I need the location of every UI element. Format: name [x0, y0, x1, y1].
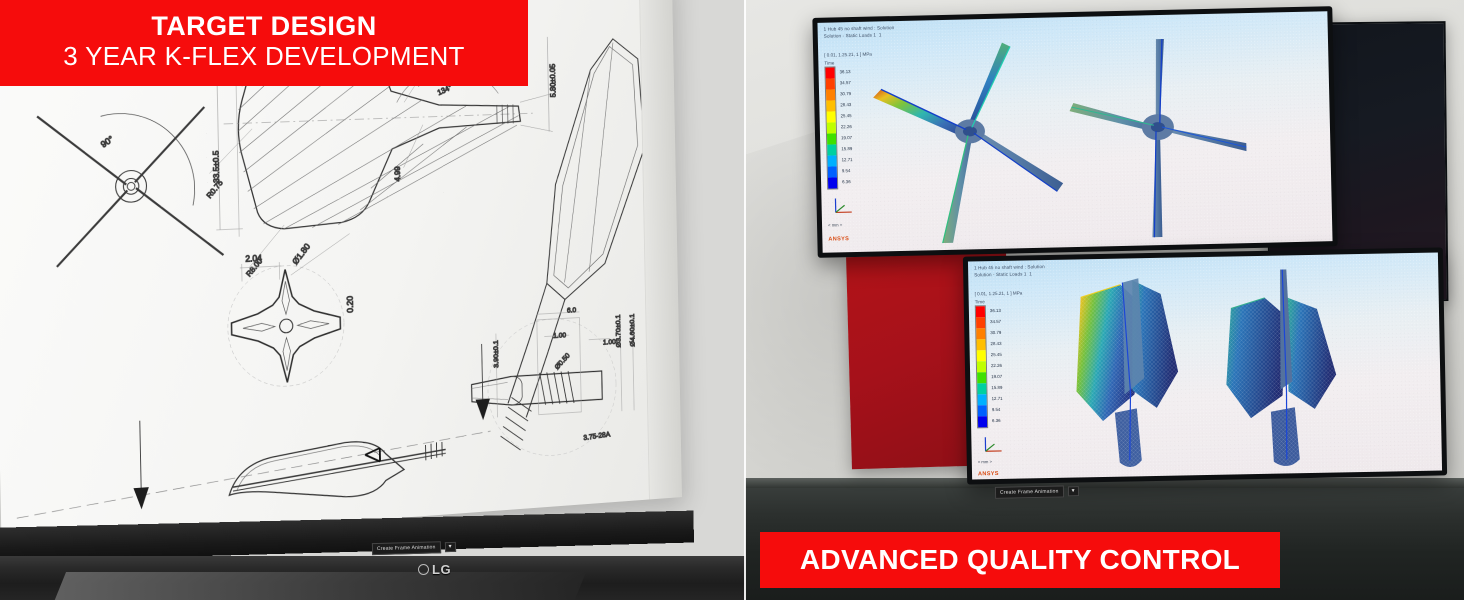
right-photo-panel: 1 Hub 45 no shaft wind : Solution Soluti…: [745, 0, 1464, 600]
sim-geometry-bottom: [1034, 267, 1438, 475]
dim-len-3-90: 3.90±0.1: [491, 340, 500, 368]
legend-tick: 25.45: [840, 110, 851, 121]
legend-tick: 15.89: [991, 382, 1002, 393]
dim-thread-spec: 3.75-28A: [583, 430, 610, 442]
legend-tick: 9.54: [842, 165, 853, 176]
legend-tick: 22.26: [841, 121, 852, 132]
legend-tick: 15.89: [841, 143, 852, 154]
dim-radius-0-75: R0.75: [205, 178, 225, 200]
stress-legend-bottom: 36.13 34.57 30.79 28.43 25.45 22.26 19.0…: [975, 305, 1003, 428]
legend-tick: 22.26: [991, 360, 1002, 371]
legend-tick: 28.43: [990, 338, 1001, 349]
banner-quality-control: ADVANCED QUALITY CONTROL: [760, 532, 1280, 588]
banner-quality-line1: ADVANCED QUALITY CONTROL: [800, 544, 1240, 576]
legend-tick: 34.57: [990, 316, 1001, 327]
axis-triad-icon-bottom: [981, 433, 1008, 460]
legend-colorbar-bottom: [975, 305, 988, 428]
legend-tick: 6.36: [992, 415, 1003, 426]
ansys-monitor-bottom: 1 Hub 45 no shaft wind : Solution Soluti…: [963, 247, 1447, 484]
axis-triad-icon-top: [831, 194, 858, 222]
legend-tick: 6.36: [842, 176, 853, 187]
sim-geometry-top: [868, 19, 1323, 244]
cad-monitor-stand: [0, 556, 745, 600]
lg-ring-icon: [418, 564, 429, 575]
screenshot-root: Find text or tools 🔍: [0, 0, 1464, 600]
ansys-brand-bottom: ANSYS: [978, 471, 999, 477]
ansys-monitor-top: 1 Hub 45 no shaft wind : Solution Soluti…: [812, 6, 1337, 258]
legend-tick: 36.13: [990, 305, 1001, 316]
legend-tick: 9.54: [992, 404, 1003, 415]
legend-tick: 19.07: [991, 371, 1002, 382]
dim-dia-4-60: Ø4.60±0.1: [628, 314, 637, 347]
dim-dia-0-50: Ø0.50: [553, 351, 571, 371]
dim-width-5-80: 5.80±0.05: [549, 63, 558, 97]
result-units-bottom: [ 0.01, 1.25.21, 1 ] MPa: [975, 290, 1023, 298]
legend-unit-top: < mm >: [828, 222, 842, 227]
legend-tick: 19.07: [841, 132, 852, 143]
flight-iso-right: [1224, 267, 1338, 468]
banner-target-line1: TARGET DESIGN: [151, 12, 376, 40]
legend-unit-bottom: < mm >: [978, 459, 992, 464]
frame-animation-label[interactable]: Create Frame Animation: [372, 541, 441, 555]
cad-view-side-flight: [14, 344, 492, 521]
dim-len-2-04: 2.04: [245, 253, 262, 264]
legend-tick: 12.71: [991, 393, 1002, 404]
chevron-down-icon[interactable]: ▾: [1067, 486, 1078, 496]
dim-dia-3-70: Ø3.70±0.1: [614, 314, 623, 347]
chevron-down-icon[interactable]: ▾: [444, 542, 455, 552]
ansys-screen-top: 1 Hub 45 no shaft wind : Solution Soluti…: [817, 11, 1332, 253]
stress-legend-top: 36.13 34.57 30.79 28.43 25.45 22.26 19.0…: [824, 66, 853, 190]
flight-specimen-left: [872, 41, 1065, 244]
result-units-top: [ 0.01, 1.25.21, 1 ] MPa: [824, 52, 872, 60]
frame-animation-control-left[interactable]: Create Frame Animation ▾: [372, 541, 456, 555]
lg-brand-text: LG: [432, 562, 451, 577]
lg-brand-logo: LG: [418, 562, 451, 577]
dim-thk-0-20: 0.20: [345, 296, 355, 313]
dim-height-33-5: 33.5±0.5: [211, 150, 221, 183]
dim-len-1-00-a: 1.00: [553, 331, 566, 340]
ansys-brand-top: ANSYS: [828, 236, 849, 242]
left-photo-panel: Find text or tools 🔍: [0, 0, 745, 600]
flight-iso-left: [1074, 278, 1180, 468]
dim-len-4-99: 4.99: [393, 166, 402, 182]
legend-ticks-bottom: 36.13 34.57 30.79 28.43 25.45 22.26 19.0…: [990, 305, 1003, 428]
legend-tick: 25.45: [991, 349, 1002, 360]
banner-target-design: TARGET DESIGN 3 YEAR K-FLEX DEVELOPMENT: [0, 0, 528, 86]
banner-target-line2: 3 YEAR K-FLEX DEVELOPMENT: [63, 41, 464, 72]
frame-animation-label[interactable]: Create Frame Animation: [995, 485, 1064, 498]
dim-len-6-0: 6.0: [567, 305, 576, 314]
ansys-screen-bottom: 1 Hub 45 no shaft wind : Solution Soluti…: [968, 253, 1442, 480]
frame-animation-control-right[interactable]: Create Frame Animation ▾: [995, 485, 1079, 499]
panel-divider: [744, 0, 746, 600]
legend-tick: 34.57: [840, 77, 851, 88]
legend-tick: 30.79: [990, 327, 1001, 338]
legend-tick: 28.43: [840, 99, 851, 110]
dim-angle-90: 90°: [99, 134, 116, 150]
legend-tick: 12.71: [841, 154, 852, 165]
cad-view-cross-section: [37, 106, 224, 267]
legend-tick: 30.79: [840, 88, 851, 99]
flight-specimen-right: [1068, 37, 1248, 239]
legend-colorbar-top: [824, 66, 838, 189]
legend-tick: 36.13: [839, 66, 850, 77]
